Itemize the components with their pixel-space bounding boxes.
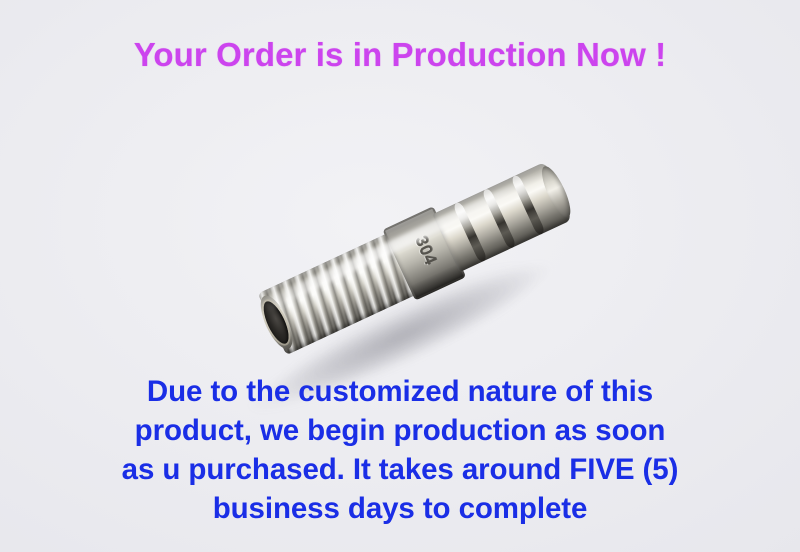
page-title: Your Order is in Production Now ! [0, 36, 800, 74]
notice-line: product, we begin production as soon [0, 411, 800, 450]
promo-card: Your Order is in Production Now ! 304 Du… [0, 0, 800, 552]
notice-line: as u purchased. It takes around FIVE (5) [0, 450, 800, 489]
notice-line: business days to complete [0, 489, 800, 528]
notice-line: Due to the customized nature of this [0, 372, 800, 411]
product-image: 304 [0, 118, 800, 380]
production-notice: Due to the customized nature of this pro… [0, 372, 800, 528]
